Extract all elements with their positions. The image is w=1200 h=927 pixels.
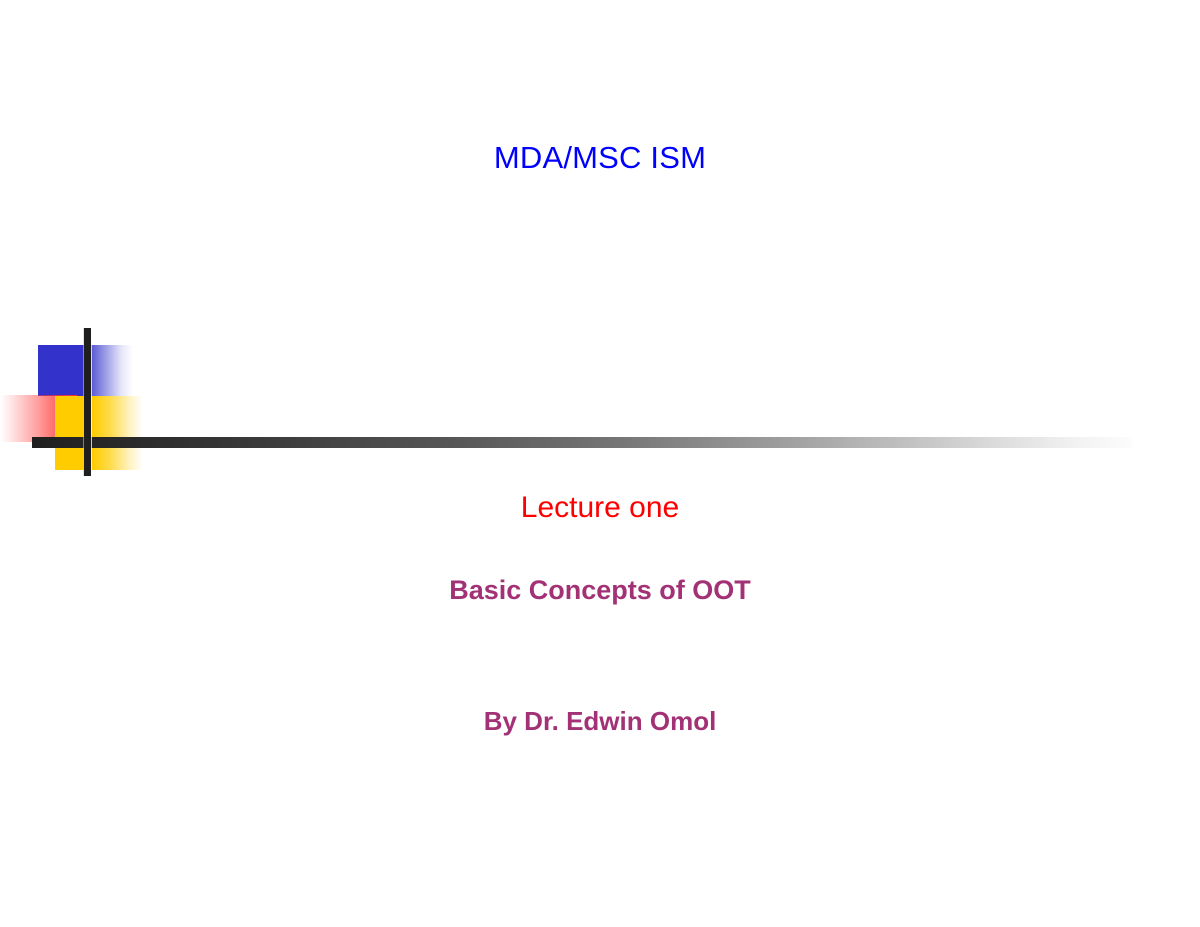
yellow-square-shape	[55, 396, 143, 470]
author-byline: By Dr. Edwin Omol	[0, 706, 1200, 737]
lecture-label: Lecture one	[0, 490, 1200, 526]
vertical-black-bar	[84, 328, 91, 476]
slide-title: MDA/MSC ISM	[0, 140, 1200, 176]
presentation-slide: MDA/MSC ISM Lecture one Basic Concepts o…	[0, 0, 1200, 927]
horizontal-gradient-bar	[32, 437, 1132, 448]
corner-accent-graphic	[0, 310, 1200, 490]
slide-subtitle: Basic Concepts of OOT	[0, 574, 1200, 606]
